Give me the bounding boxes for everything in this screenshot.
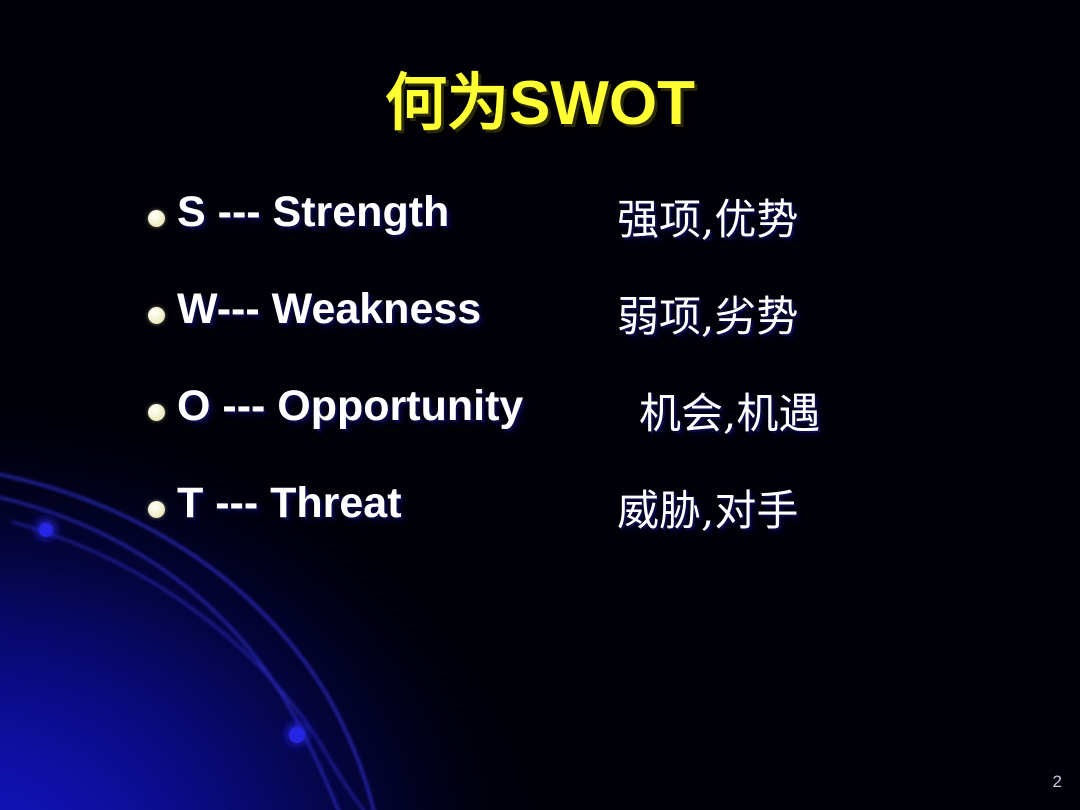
list-item: O --- Opportunity 机会,机遇	[148, 382, 988, 479]
list-item-term: O --- Opportunity	[177, 382, 523, 431]
bullet-circle-icon	[148, 501, 165, 518]
bullet-circle-icon	[148, 210, 165, 227]
page-title-cjk: 何为	[385, 66, 509, 139]
list-item-body: W--- Weakness 弱项,劣势	[177, 285, 988, 345]
list-item: T --- Threat 威胁,对手	[148, 479, 988, 576]
list-item-term: S --- Strength	[177, 188, 449, 237]
list-item-translation: 强项,优势	[617, 186, 798, 247]
slide-canvas: 何为SWOT S --- Strength 强项,优势 W--- Weaknes…	[0, 0, 1080, 810]
list-item: S --- Strength 强项,优势	[148, 188, 988, 285]
page-title: 何为SWOT	[0, 52, 1080, 142]
bullet-list: S --- Strength 强项,优势 W--- Weakness 弱项,劣势…	[148, 188, 988, 576]
list-item-translation: 威胁,对手	[617, 477, 798, 538]
list-item-body: T --- Threat 威胁,对手	[177, 479, 988, 539]
list-item-term: W--- Weakness	[177, 285, 481, 334]
list-item-translation: 机会,机遇	[639, 380, 820, 441]
bullet-circle-icon	[148, 404, 165, 421]
list-item: W--- Weakness 弱项,劣势	[148, 285, 988, 382]
list-item-term: T --- Threat	[177, 479, 402, 528]
bullet-circle-icon	[148, 307, 165, 324]
list-item-body: S --- Strength 强项,优势	[177, 188, 988, 248]
page-title-latin: SWOT	[509, 69, 695, 138]
list-item-body: O --- Opportunity 机会,机遇	[177, 382, 988, 442]
page-number: 2	[1053, 772, 1062, 792]
list-item-translation: 弱项,劣势	[617, 283, 798, 344]
